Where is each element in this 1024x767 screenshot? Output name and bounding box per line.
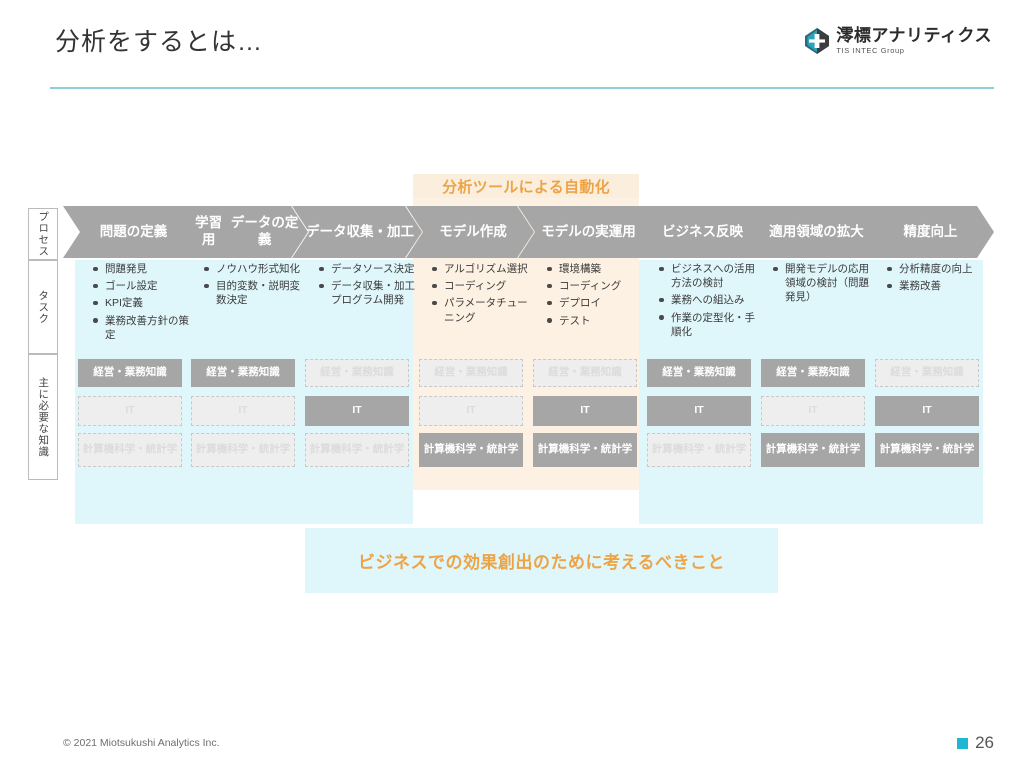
knowledge-box-label: IT (125, 404, 134, 417)
automation-foot-white (413, 490, 639, 524)
process-step-label: 適用領域の (769, 224, 837, 241)
process-diagram: 分析ツールによる自動化 プロセス タスク 主に必要な知識 問題の定義問題発見ゴー… (0, 0, 1024, 620)
knowledge-box-c5-r1[interactable]: 経営・業務知識 (533, 359, 637, 387)
knowledge-box-c2-r1[interactable]: 経営・業務知識 (191, 359, 295, 387)
process-step-3[interactable]: データ収集・加工 (292, 206, 422, 258)
knowledge-box-label: IT (352, 404, 361, 417)
knowledge-box-c8-r1[interactable]: 経営・業務知識 (875, 359, 979, 387)
process-step-label: ビジネス反映 (662, 224, 743, 241)
knowledge-box-label: 経営・ (206, 366, 238, 379)
task-item: デプロイ (544, 296, 640, 310)
task-item: ノウハウ形式知化 (201, 262, 307, 276)
process-step-label: 問題の定義 (100, 224, 168, 241)
process-step-1[interactable]: 問題の定義 (63, 206, 198, 258)
knowledge-box-c6-r3[interactable]: 計算機科学・統計学 (647, 433, 751, 467)
knowledge-box-label: 経営・ (548, 366, 580, 379)
knowledge-box-label: 統計学 (487, 443, 519, 456)
task-item: パラメータチューニング (429, 296, 533, 324)
task-item: ゴール設定 (90, 279, 196, 293)
knowledge-box-label: IT (922, 404, 931, 417)
knowledge-box-label: 業務知識 (808, 366, 850, 379)
knowledge-box-label: 統計学 (715, 443, 747, 456)
task-list-5: 環境構築コーディングデプロイテスト (540, 262, 640, 331)
task-item: 目的変数・説明変数決定 (201, 279, 307, 307)
task-list-2: ノウハウ形式知化目的変数・説明変数決定 (197, 262, 307, 311)
process-step-label: モデルの (541, 224, 595, 241)
process-step-label: 実運用 (595, 224, 636, 241)
knowledge-box-label: 経営・ (93, 366, 125, 379)
process-step-label: モデル作成 (439, 224, 507, 241)
task-list: 分析精度の向上業務改善 (884, 262, 984, 293)
task-item: コーディング (544, 279, 640, 293)
task-list: 問題発見ゴール設定KPI定義業務改善方針の策定 (90, 262, 196, 342)
knowledge-box-c4-r1[interactable]: 経営・業務知識 (419, 359, 523, 387)
task-item: 環境構築 (544, 262, 640, 276)
task-item: KPI定義 (90, 296, 196, 310)
knowledge-box-c3-r3[interactable]: 計算機科学・統計学 (305, 433, 409, 467)
knowledge-box-label: IT (466, 404, 475, 417)
process-step-label: データの定義 (227, 215, 302, 249)
knowledge-box-label: 経営・ (662, 366, 694, 379)
knowledge-box-label: 業務知識 (694, 366, 736, 379)
task-list: ビジネスへの活用方法の検討業務への組込み作業の定型化・手順化 (656, 262, 760, 339)
knowledge-box-label: 統計学 (259, 443, 291, 456)
knowledge-box-label: IT (580, 404, 589, 417)
knowledge-box-label: 計算機科学・ (538, 443, 601, 456)
knowledge-box-label: 計算機科学・ (880, 443, 943, 456)
process-step-label: 拡大 (837, 224, 864, 241)
row-label-knowledge-text: 主に必要な知識 (38, 377, 49, 458)
process-step-label: データ (306, 224, 347, 241)
process-step-label: 収集・加工 (347, 224, 415, 241)
task-list: 環境構築コーディングデプロイテスト (544, 262, 640, 328)
task-item: 問題発見 (90, 262, 196, 276)
task-item: 開発モデルの応用領域の検討（問題発見） (770, 262, 874, 305)
task-item: ビジネスへの活用方法の検討 (656, 262, 760, 290)
task-list-1: 問題発見ゴール設定KPI定義業務改善方針の策定 (86, 262, 196, 345)
row-label-process-text: プロセス (38, 211, 49, 257)
knowledge-box-label: IT (238, 404, 247, 417)
knowledge-box-label: 計算機科学・ (424, 443, 487, 456)
task-list: データソース決定データ収集・加工プログラム開発 (316, 262, 420, 308)
knowledge-box-label: 計算機科学・ (196, 443, 259, 456)
knowledge-box-label: 統計学 (373, 443, 405, 456)
row-label-task-text: タスク (38, 290, 49, 325)
knowledge-box-label: IT (694, 404, 703, 417)
process-step-4[interactable]: モデル作成 (406, 206, 534, 258)
page-number: 26 (975, 733, 994, 753)
knowledge-box-c3-r2[interactable]: IT (305, 396, 409, 426)
task-item: 業務改善方針の策定 (90, 314, 196, 342)
knowledge-box-label: 業務知識 (922, 366, 964, 379)
process-step-8[interactable]: 精度向上 (861, 206, 994, 258)
task-item: データソース決定 (316, 262, 420, 276)
knowledge-box-label: 業務知識 (352, 366, 394, 379)
knowledge-box-c8-r3[interactable]: 計算機科学・統計学 (875, 433, 979, 467)
knowledge-box-label: 計算機科学・ (83, 443, 146, 456)
task-list: ノウハウ形式知化目的変数・説明変数決定 (201, 262, 307, 308)
knowledge-box-label: 統計学 (146, 443, 178, 456)
knowledge-box-c7-r1[interactable]: 経営・業務知識 (761, 359, 865, 387)
bottom-banner: ビジネスでの効果創出のために考えるべきこと (305, 528, 778, 593)
knowledge-box-c7-r3[interactable]: 計算機科学・統計学 (761, 433, 865, 467)
task-list-6: ビジネスへの活用方法の検討業務への組込み作業の定型化・手順化 (652, 262, 760, 342)
knowledge-box-label: 経営・ (434, 366, 466, 379)
task-list-3: データソース決定データ収集・加工プログラム開発 (312, 262, 420, 311)
automation-banner: 分析ツールによる自動化 (413, 174, 639, 198)
process-step-label: 精度向上 (904, 224, 958, 241)
task-item: 業務改善 (884, 279, 984, 293)
knowledge-box-c1-r1[interactable]: 経営・業務知識 (78, 359, 182, 387)
knowledge-box-c1-r3[interactable]: 計算機科学・統計学 (78, 433, 182, 467)
row-label-knowledge: 主に必要な知識 (28, 354, 58, 480)
knowledge-box-label: IT (808, 404, 817, 417)
task-item: アルゴリズム選択 (429, 262, 533, 276)
knowledge-box-c1-r2[interactable]: IT (78, 396, 182, 426)
knowledge-box-label: 業務知識 (238, 366, 280, 379)
knowledge-box-c5-r2[interactable]: IT (533, 396, 637, 426)
page-marker-icon (957, 738, 968, 749)
task-item: 作業の定型化・手順化 (656, 311, 760, 339)
task-list: アルゴリズム選択コーディングパラメータチューニング (429, 262, 533, 325)
knowledge-box-label: 計算機科学・ (310, 443, 373, 456)
row-label-process: プロセス (28, 208, 58, 260)
knowledge-box-c4-r3[interactable]: 計算機科学・統計学 (419, 433, 523, 467)
footer-page: 26 (957, 733, 994, 753)
task-item: テスト (544, 314, 640, 328)
knowledge-box-label: 統計学 (601, 443, 633, 456)
knowledge-box-label: 業務知識 (580, 366, 622, 379)
task-list: 開発モデルの応用領域の検討（問題発見） (770, 262, 874, 305)
task-item: 分析精度の向上 (884, 262, 984, 276)
knowledge-box-c8-r2[interactable]: IT (875, 396, 979, 426)
process-step-5[interactable]: モデルの実運用 (518, 206, 653, 258)
task-item: コーディング (429, 279, 533, 293)
task-list-8: 分析精度の向上業務改善 (880, 262, 984, 296)
knowledge-box-c7-r2[interactable]: IT (761, 396, 865, 426)
knowledge-box-c4-r2[interactable]: IT (419, 396, 523, 426)
knowledge-box-label: 統計学 (943, 443, 975, 456)
knowledge-box-c2-r2[interactable]: IT (191, 396, 295, 426)
row-label-task: タスク (28, 260, 58, 354)
knowledge-box-c6-r2[interactable]: IT (647, 396, 751, 426)
knowledge-box-label: 経営・ (776, 366, 808, 379)
knowledge-box-c3-r1[interactable]: 経営・業務知識 (305, 359, 409, 387)
task-list-7: 開発モデルの応用領域の検討（問題発見） (766, 262, 874, 308)
knowledge-box-label: 統計学 (829, 443, 861, 456)
knowledge-box-label: 計算機科学・ (652, 443, 715, 456)
footer-copyright: © 2021 Miotsukushi Analytics Inc. (63, 737, 220, 749)
knowledge-box-label: 計算機科学・ (766, 443, 829, 456)
task-item: 業務への組込み (656, 293, 760, 307)
knowledge-box-label: 業務知識 (466, 366, 508, 379)
knowledge-box-label: 経営・ (320, 366, 352, 379)
task-item: データ収集・加工プログラム開発 (316, 279, 420, 307)
process-step-7[interactable]: 適用領域の拡大 (747, 206, 880, 258)
knowledge-box-c5-r3[interactable]: 計算機科学・統計学 (533, 433, 637, 467)
knowledge-box-label: 経営・ (890, 366, 922, 379)
task-list-4: アルゴリズム選択コーディングパラメータチューニング (425, 262, 533, 328)
knowledge-box-c2-r3[interactable]: 計算機科学・統計学 (191, 433, 295, 467)
knowledge-box-label: 業務知識 (125, 366, 167, 379)
knowledge-box-c6-r1[interactable]: 経営・業務知識 (647, 359, 751, 387)
